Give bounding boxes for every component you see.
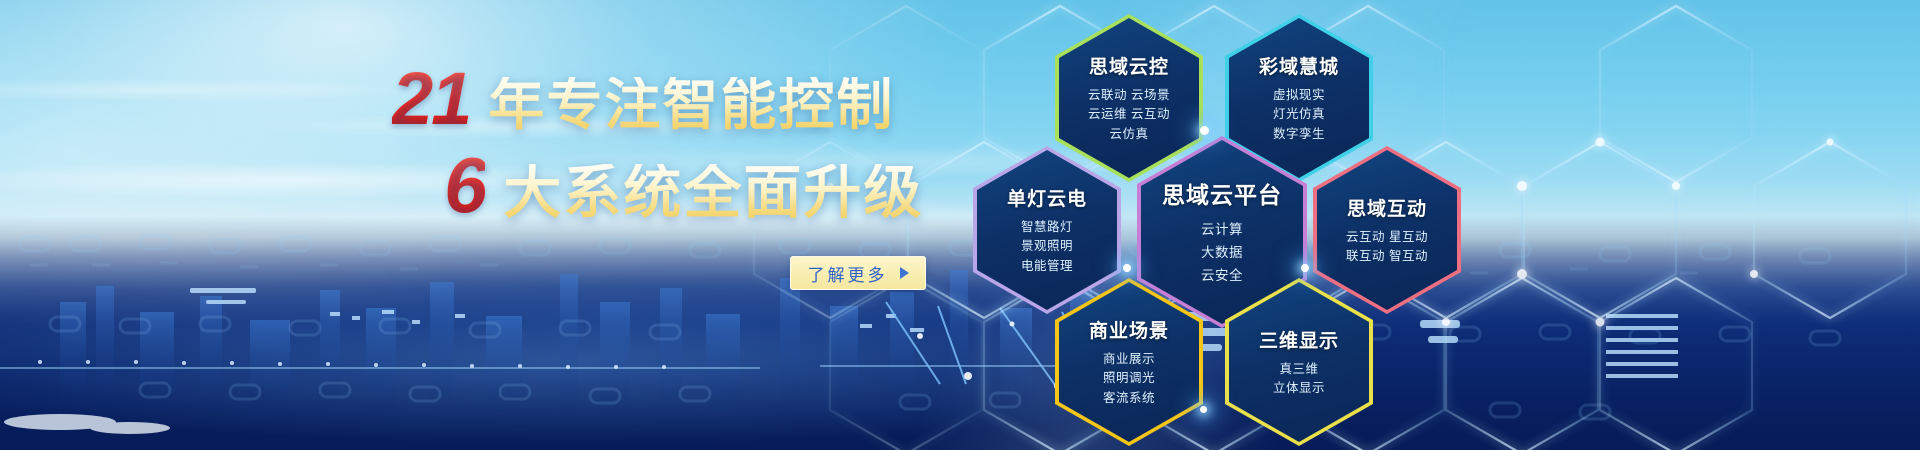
- hex-content: 彩域慧城 虚拟现实 灯光仿真 数字孪生: [1249, 52, 1349, 144]
- learn-more-button[interactable]: 了解更多: [790, 256, 926, 290]
- headline-line-2: 6 大系统全面升级: [444, 146, 1032, 224]
- network-node: [1123, 264, 1131, 272]
- hex-content: 思域云平台 云计算 大数据 云安全: [1152, 176, 1292, 288]
- hexagon-cluster: 思域云控 云联动 云场景 云运维 云互动 云仿真 彩域慧城 虚拟现实 灯光仿真 …: [985, 14, 1545, 450]
- learn-more-label: 了解更多: [808, 261, 888, 286]
- promo-banner: 21 年专注智能控制 6 大系统全面升级 了解更多 思域云控 云联动 云场景 云…: [0, 0, 1920, 450]
- hex-siyu-cloud-control[interactable]: 思域云控 云联动 云场景 云运维 云互动 云仿真: [1055, 14, 1203, 182]
- hex-line: 电能管理: [1007, 257, 1087, 276]
- hex-content: 思域互动 云互动 星互动 联互动 智互动: [1336, 194, 1438, 267]
- headline-text-2: 大系统全面升级: [503, 164, 923, 222]
- hex-title: 思域云平台: [1162, 176, 1282, 210]
- hex-line: 云计算: [1162, 219, 1282, 242]
- hex-title: 思域互动: [1346, 194, 1428, 221]
- network-node: [1200, 126, 1209, 135]
- hex-title: 三维显示: [1259, 326, 1339, 353]
- hex-line: 云安全: [1162, 265, 1282, 288]
- hex-line: 灯光仿真: [1259, 105, 1339, 124]
- hex-line: 景观照明: [1007, 237, 1087, 256]
- hex-content: 三维显示 真三维 立体显示: [1249, 326, 1349, 399]
- headline-block: 21 年专注智能控制 6 大系统全面升级: [392, 62, 1032, 230]
- headline-line-1: 21 年专注智能控制: [392, 62, 1032, 136]
- hex-line: 云联动 云场景: [1088, 86, 1170, 105]
- hex-line: 云互动 星互动: [1346, 228, 1428, 247]
- headline-text-1: 年专注智能控制: [488, 77, 894, 133]
- network-node: [1200, 406, 1207, 413]
- hex-line: 云运维 云互动: [1088, 105, 1170, 124]
- hex-title: 彩域慧城: [1259, 52, 1339, 79]
- hex-line: 虚拟现实: [1259, 86, 1339, 105]
- headline-number-1: 21: [392, 62, 470, 136]
- hex-title: 思域云控: [1088, 52, 1170, 79]
- hex-line: 客流系统: [1089, 389, 1169, 408]
- hex-content: 思域云控 云联动 云场景 云运维 云互动 云仿真: [1078, 52, 1180, 144]
- hex-line: 联互动 智互动: [1346, 247, 1428, 266]
- hex-line: 真三维: [1259, 360, 1339, 379]
- hex-content: 商业场景 商业展示 照明调光 客流系统: [1079, 316, 1179, 408]
- hex-line: 云仿真: [1088, 125, 1170, 144]
- hex-line: 数字孪生: [1259, 125, 1339, 144]
- hex-line: 照明调光: [1089, 369, 1169, 388]
- hex-title: 商业场景: [1089, 316, 1169, 343]
- headline-number-2: 6: [444, 146, 485, 224]
- network-node: [1301, 264, 1309, 272]
- play-triangle-icon: [900, 267, 909, 279]
- hex-line: 大数据: [1162, 242, 1282, 265]
- hex-siyu-interactive[interactable]: 思域互动 云互动 星互动 联互动 智互动: [1313, 146, 1461, 314]
- hex-line: 立体显示: [1259, 379, 1339, 398]
- hex-line: 商业展示: [1089, 350, 1169, 369]
